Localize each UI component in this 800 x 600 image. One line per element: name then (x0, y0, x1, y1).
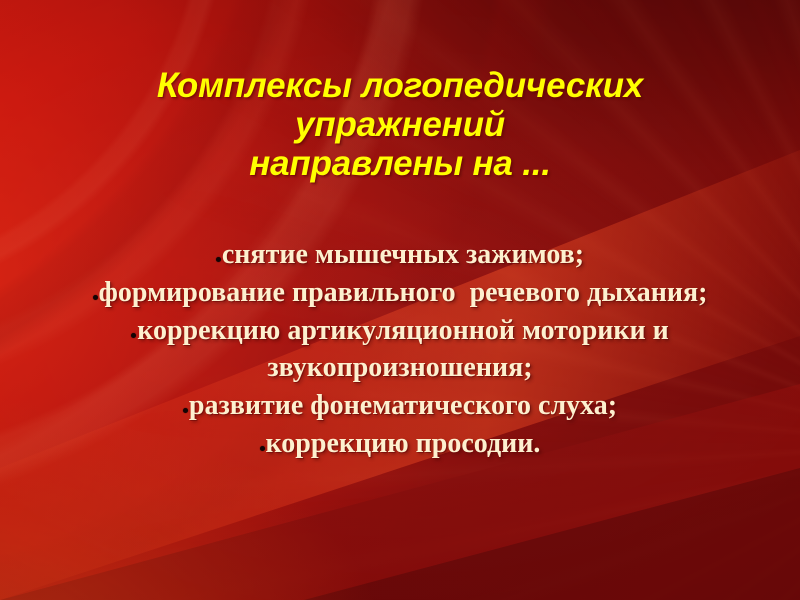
bullet-dot-icon (93, 295, 98, 300)
bullet-dot-icon (131, 333, 136, 338)
list-item-label: коррекцию артикуляционной моторики и зву… (137, 315, 676, 383)
list-item: снятие мышечных зажимов; (26, 236, 774, 273)
bullet-dot-icon (260, 446, 265, 451)
title-line-1: Комплексы логопедических (40, 66, 760, 105)
list-item-label: формирование правильного речевого дыхани… (99, 277, 708, 308)
list-item-label: развитие фонематического слуха; (189, 390, 617, 421)
list-item: коррекцию артикуляционной моторики и зву… (26, 312, 774, 386)
list-item-label: снятие мышечных зажимов; (222, 239, 584, 270)
title-line-3: направлены на ... (40, 144, 760, 183)
bullet-dot-icon (216, 257, 221, 262)
slide-content: Комплексы логопедических упражнений напр… (0, 0, 800, 600)
list-item: коррекцию просодии. (26, 425, 774, 462)
bullet-dot-icon (183, 408, 188, 413)
list-item: формирование правильного речевого дыхани… (26, 274, 774, 311)
presentation-slide: Комплексы логопедических упражнений напр… (0, 0, 800, 600)
list-item-label: коррекцию просодии. (266, 428, 541, 459)
bullet-list: снятие мышечных зажимов; формирование пр… (26, 236, 774, 463)
slide-title: Комплексы логопедических упражнений напр… (40, 66, 760, 183)
title-line-2: упражнений (40, 105, 760, 144)
list-item: развитие фонематического слуха; (26, 387, 774, 424)
